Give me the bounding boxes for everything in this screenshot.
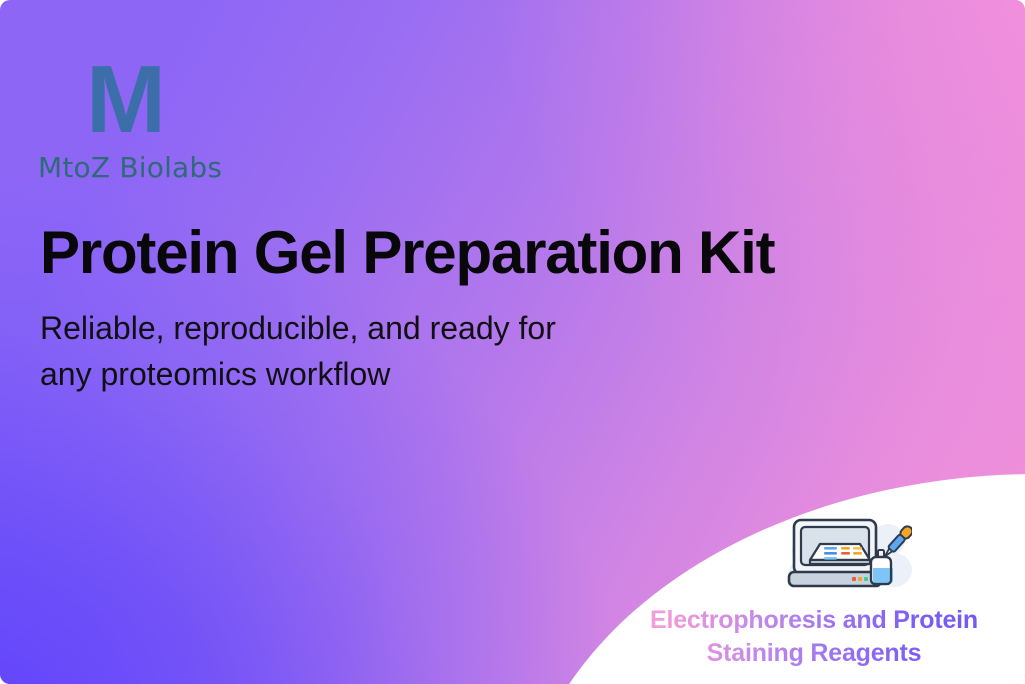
logo-wordmark: MtoZ Biolabs — [38, 154, 278, 182]
page-title: Protein Gel Preparation Kit — [40, 222, 774, 284]
brand-logo: M MtoZ Biolabs — [38, 56, 278, 182]
page-subtitle: Reliable, reproducible, and ready for an… — [40, 306, 774, 397]
headline-block: Protein Gel Preparation Kit Reliable, re… — [40, 222, 774, 397]
promo-banner: M MtoZ Biolabs Protein Gel Preparation K… — [0, 0, 1025, 684]
product-caption: Electrophoresis and Protein Staining Rea… — [610, 604, 1018, 670]
gel-electrophoresis-apparatus-icon — [784, 514, 912, 596]
logo-mark-m: M — [38, 56, 278, 144]
